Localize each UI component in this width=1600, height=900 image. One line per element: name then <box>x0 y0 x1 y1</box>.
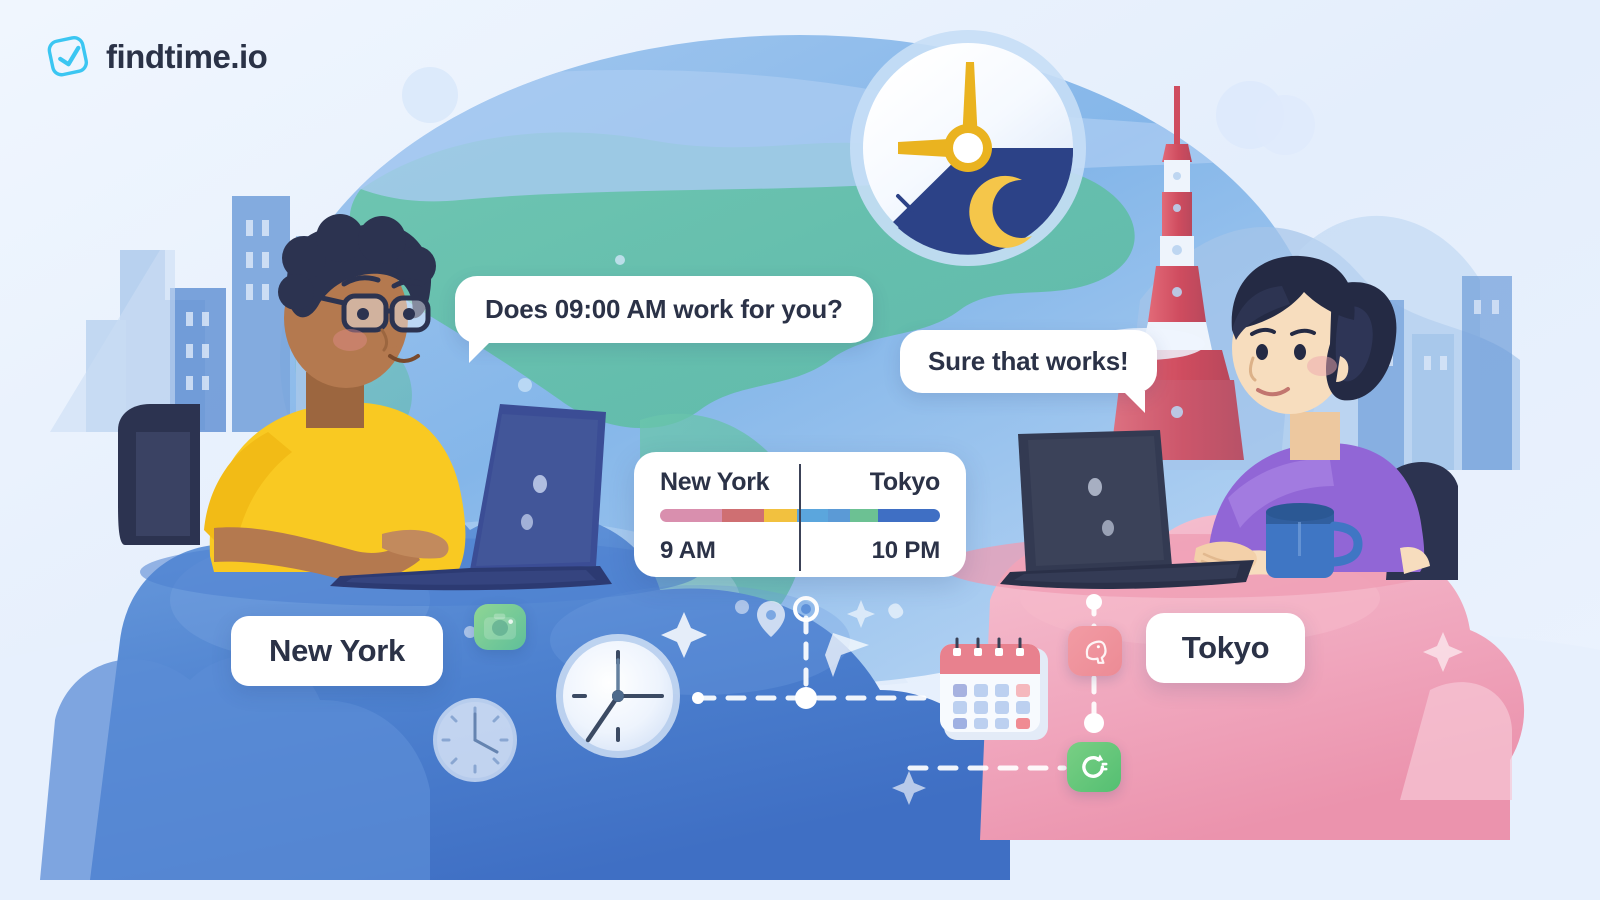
timezone-comparison-card[interactable]: New York Tokyo 9 AM 10 PM <box>634 452 966 577</box>
timezone-bar-segment-3 <box>764 509 798 522</box>
city-label-new-york-text: New York <box>269 633 405 669</box>
comparison-city-right: Tokyo <box>870 468 940 497</box>
check-square-icon <box>46 34 92 80</box>
speech-bubble-tokyo: Sure that works! <box>900 330 1157 393</box>
timezone-bar-segment-4 <box>797 509 828 522</box>
comparison-city-left: New York <box>660 468 769 497</box>
timezone-bar-segment-5 <box>828 509 850 522</box>
timezone-bar-segment-1 <box>660 509 722 522</box>
speech-bubble-tokyo-text: Sure that works! <box>928 346 1129 377</box>
timezone-bar-segment-7 <box>878 509 940 522</box>
timezone-bar-segment-2 <box>722 509 764 522</box>
day-night-clock <box>850 30 1086 266</box>
calendar-icon <box>940 639 1048 740</box>
analog-wall-clock <box>556 634 680 758</box>
speech-bubble-new-york: Does 09:00 AM work for you? <box>455 276 873 343</box>
bubble-tail <box>469 341 491 363</box>
city-label-tokyo[interactable]: Tokyo <box>1146 613 1305 683</box>
refresh-icon[interactable] <box>1067 742 1121 792</box>
timezone-bar-segment-6 <box>850 509 878 522</box>
background-art <box>0 0 1600 900</box>
brand-name: findtime.io <box>106 38 267 76</box>
city-label-tokyo-text: Tokyo <box>1182 630 1270 666</box>
bubble-tail <box>1123 391 1145 413</box>
bird-icon[interactable] <box>1068 626 1122 676</box>
camera-icon[interactable] <box>474 604 526 650</box>
comparison-time-left: 9 AM <box>660 537 716 565</box>
comparison-time-right: 10 PM <box>872 537 940 565</box>
small-analog-clock <box>435 700 515 780</box>
brand-logo[interactable]: findtime.io <box>46 34 267 80</box>
comparison-time-row: 9 AM 10 PM <box>660 537 940 565</box>
speech-bubble-new-york-text: Does 09:00 AM work for you? <box>485 294 843 325</box>
illustration-canvas: findtime.io Does 09:00 AM work for you? … <box>0 0 1600 900</box>
city-label-new-york[interactable]: New York <box>231 616 443 686</box>
